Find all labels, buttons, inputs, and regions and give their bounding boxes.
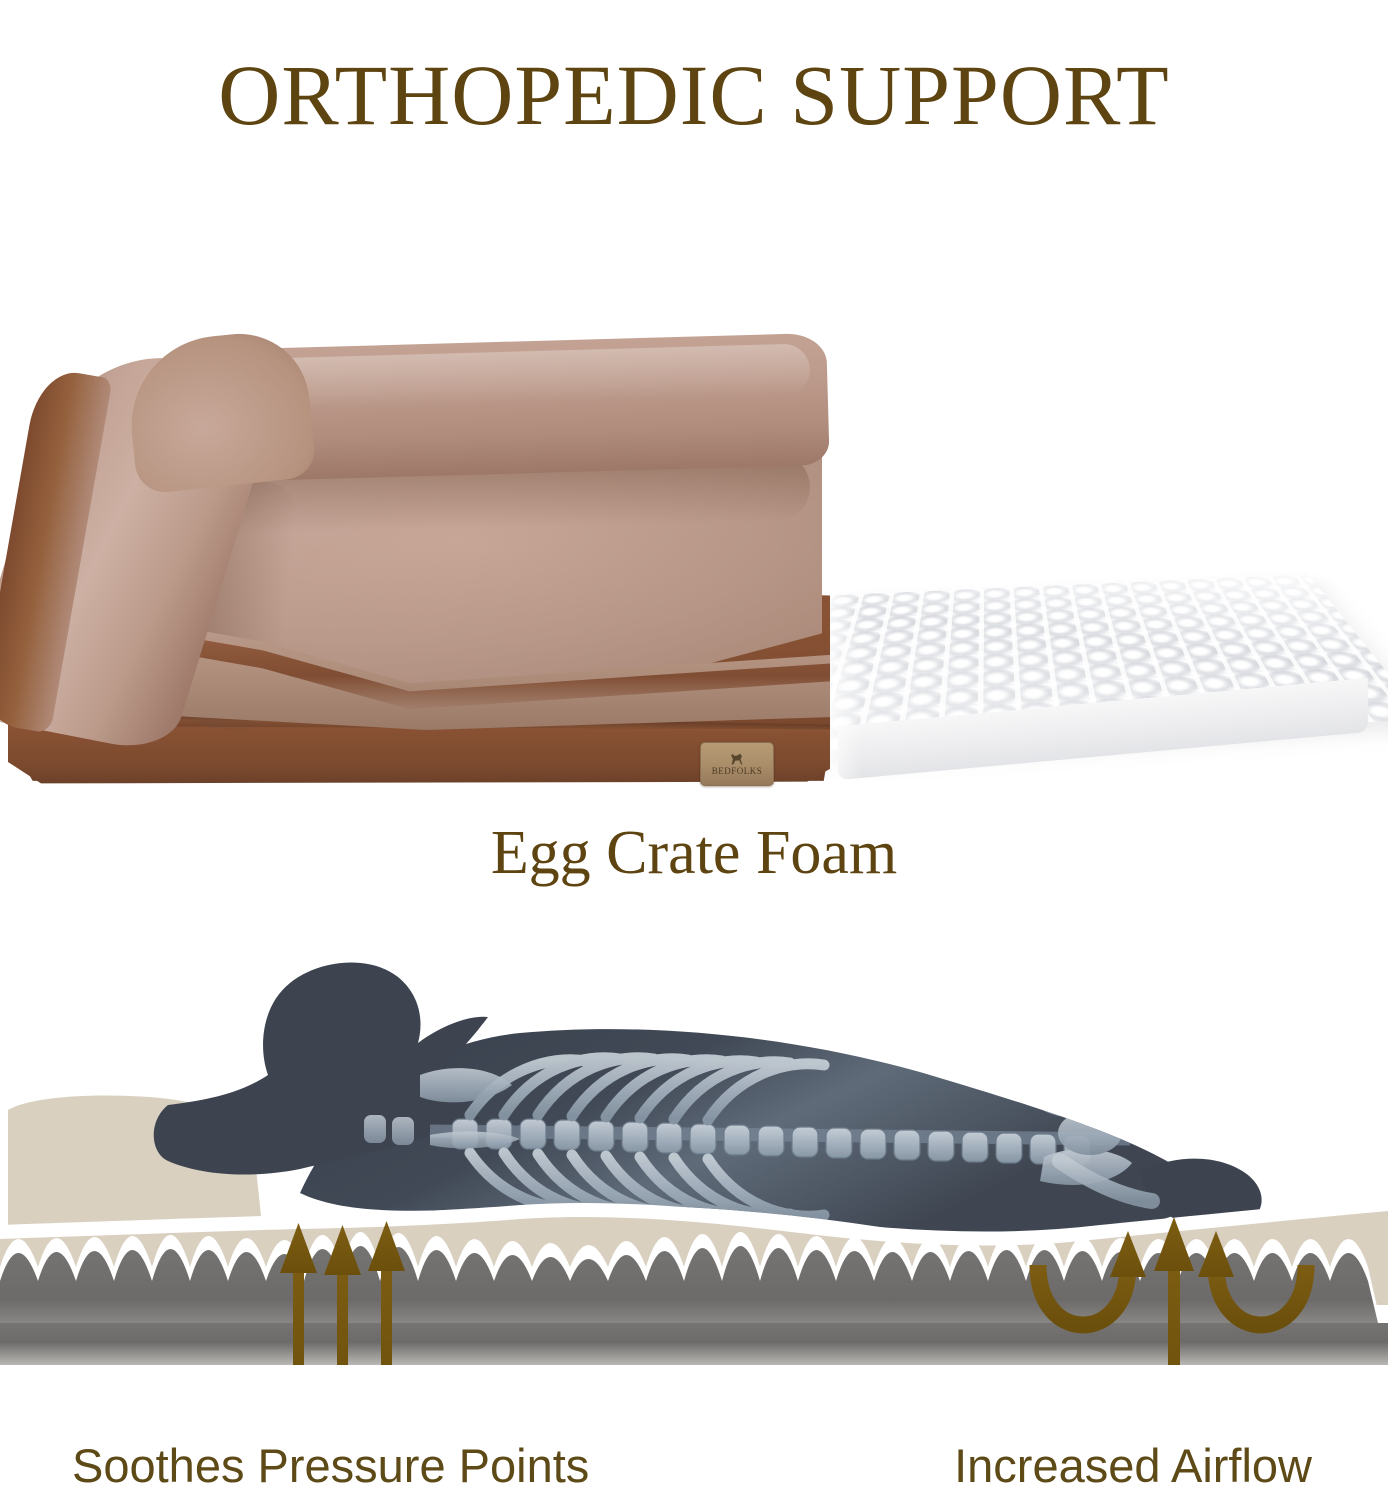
cross-section-diagram [0,925,1388,1365]
dog-bed-image [0,330,830,800]
page-title: ORTHOPEDIC SUPPORT [0,52,1388,138]
product-panel: BEDFOLKS [0,330,1388,800]
foam-caption: Egg Crate Foam [0,818,1388,889]
dog-silhouette-icon [728,752,746,766]
product-infographic: ORTHOPEDIC SUPPORT [0,0,1388,1500]
bed-bolster-corner [123,330,318,495]
label-increased-airflow: Increased Airflow [954,1442,1312,1489]
brand-name: BEDFOLKS [712,767,763,776]
pressure-arrows-group [280,1221,405,1365]
feature-labels: Soothes Pressure Points Increased Airflo… [0,1438,1388,1500]
brand-patch: BEDFOLKS [700,742,774,786]
label-soothes-pressure-points: Soothes Pressure Points [72,1442,589,1489]
